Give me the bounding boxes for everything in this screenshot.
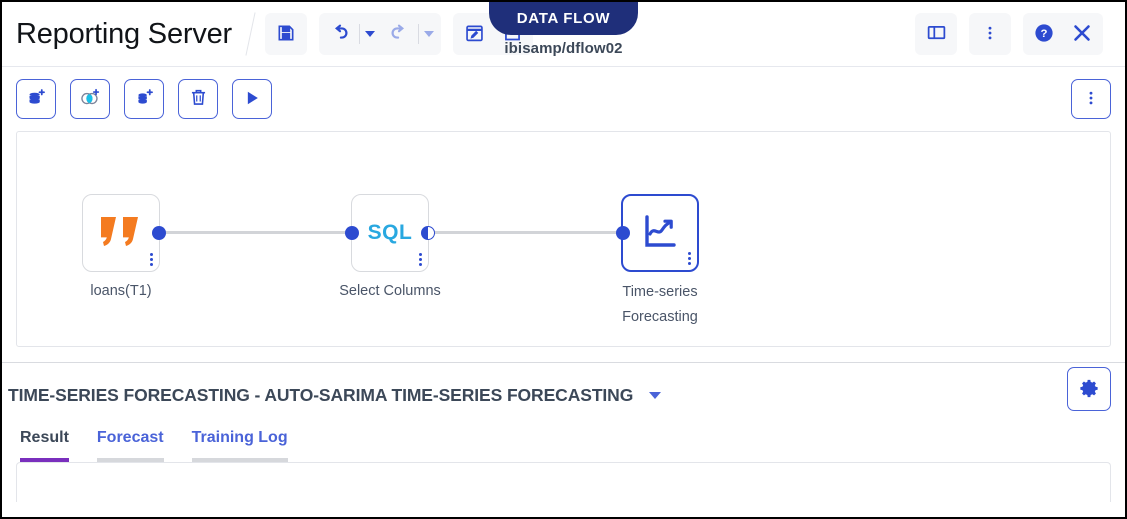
redo-button[interactable] (380, 15, 418, 53)
chevron-down-icon (424, 31, 434, 37)
node-menu-button[interactable] (688, 252, 691, 265)
results-panel-title: TIME-SERIES FORECASTING - AUTO-SARIMA TI… (8, 385, 633, 406)
tab-training-log[interactable]: Training Log (192, 429, 288, 462)
undo-dropdown-button[interactable] (360, 15, 380, 53)
data-flow-badge: DATA FLOW (489, 2, 639, 35)
input-port[interactable] (616, 226, 630, 240)
gear-icon (1079, 378, 1099, 401)
flow-path-label: ibisamp/dflow02 (449, 40, 679, 57)
timeseries-chart-icon (623, 196, 697, 270)
header-more-group (969, 13, 1011, 55)
help-button[interactable]: ? (1025, 15, 1063, 53)
add-target-icon (133, 87, 155, 112)
save-group (265, 13, 307, 55)
edge-sql-to-forecast (430, 231, 620, 234)
node-label: Time-series Forecasting (604, 280, 716, 330)
node-select-columns[interactable]: SQL Select Columns (351, 194, 429, 272)
add-source-icon (25, 87, 47, 112)
add-join-icon (79, 87, 101, 112)
panel-layout-icon (926, 22, 947, 46)
help-icon: ? (1033, 22, 1055, 47)
chevron-down-icon[interactable] (649, 392, 661, 399)
tab-forecast[interactable]: Forecast (97, 429, 164, 462)
run-button[interactable] (232, 79, 272, 119)
tab-result[interactable]: Result (20, 429, 69, 462)
results-panel-header: TIME-SERIES FORECASTING - AUTO-SARIMA TI… (2, 363, 1125, 411)
add-target-button[interactable] (124, 79, 164, 119)
header-actions: ? (915, 13, 1125, 55)
delete-button[interactable] (178, 79, 218, 119)
flow-identity: DATA FLOW ibisamp/dflow02 (449, 2, 679, 57)
close-icon (1070, 21, 1094, 48)
panel-toggle-button[interactable] (917, 15, 955, 53)
node-menu-button[interactable] (419, 253, 422, 266)
flow-canvas[interactable]: loans(T1) SQL Select Columns (16, 131, 1111, 347)
redo-icon (388, 22, 410, 47)
save-button[interactable] (267, 15, 305, 53)
canvas-wrapper: loans(T1) SQL Select Columns (2, 131, 1125, 347)
app-window: Reporting Server (0, 0, 1127, 519)
kebab-menu-icon (981, 24, 999, 45)
node-timeseries-forecasting[interactable]: Time-series Forecasting (621, 194, 699, 272)
save-icon (276, 23, 296, 46)
undo-icon (329, 22, 351, 47)
toolbar-more-button[interactable] (1071, 79, 1111, 119)
svg-text:?: ? (1041, 28, 1048, 40)
flow-toolbar (2, 67, 1125, 131)
delete-icon (188, 87, 209, 111)
output-port[interactable] (152, 226, 166, 240)
settings-button[interactable] (1067, 367, 1111, 411)
quote-icon (83, 195, 159, 271)
results-content-area (16, 462, 1111, 502)
page-title: Reporting Server (2, 18, 232, 51)
panel-toggle-group (915, 13, 957, 55)
redo-dropdown-button[interactable] (419, 15, 439, 53)
help-close-group: ? (1023, 13, 1103, 55)
results-tabs: Result Forecast Training Log (2, 429, 1125, 462)
add-source-button[interactable] (16, 79, 56, 119)
header-more-button[interactable] (971, 15, 1009, 53)
title-divider (245, 12, 255, 55)
node-label: loans(T1) (90, 279, 151, 304)
node-label: Select Columns (339, 279, 441, 304)
undo-button[interactable] (321, 15, 359, 53)
edge-source-to-sql (160, 231, 350, 234)
sql-icon: SQL (352, 195, 428, 271)
kebab-menu-icon (1082, 89, 1100, 110)
run-icon (242, 88, 262, 111)
close-button[interactable] (1063, 15, 1101, 53)
output-port[interactable] (421, 226, 435, 240)
add-join-button[interactable] (70, 79, 110, 119)
input-port[interactable] (345, 226, 359, 240)
undo-redo-group (319, 13, 441, 55)
app-header: Reporting Server (2, 2, 1125, 67)
node-menu-button[interactable] (150, 253, 153, 266)
node-loans-source[interactable]: loans(T1) (82, 194, 160, 272)
chevron-down-icon (365, 31, 375, 37)
